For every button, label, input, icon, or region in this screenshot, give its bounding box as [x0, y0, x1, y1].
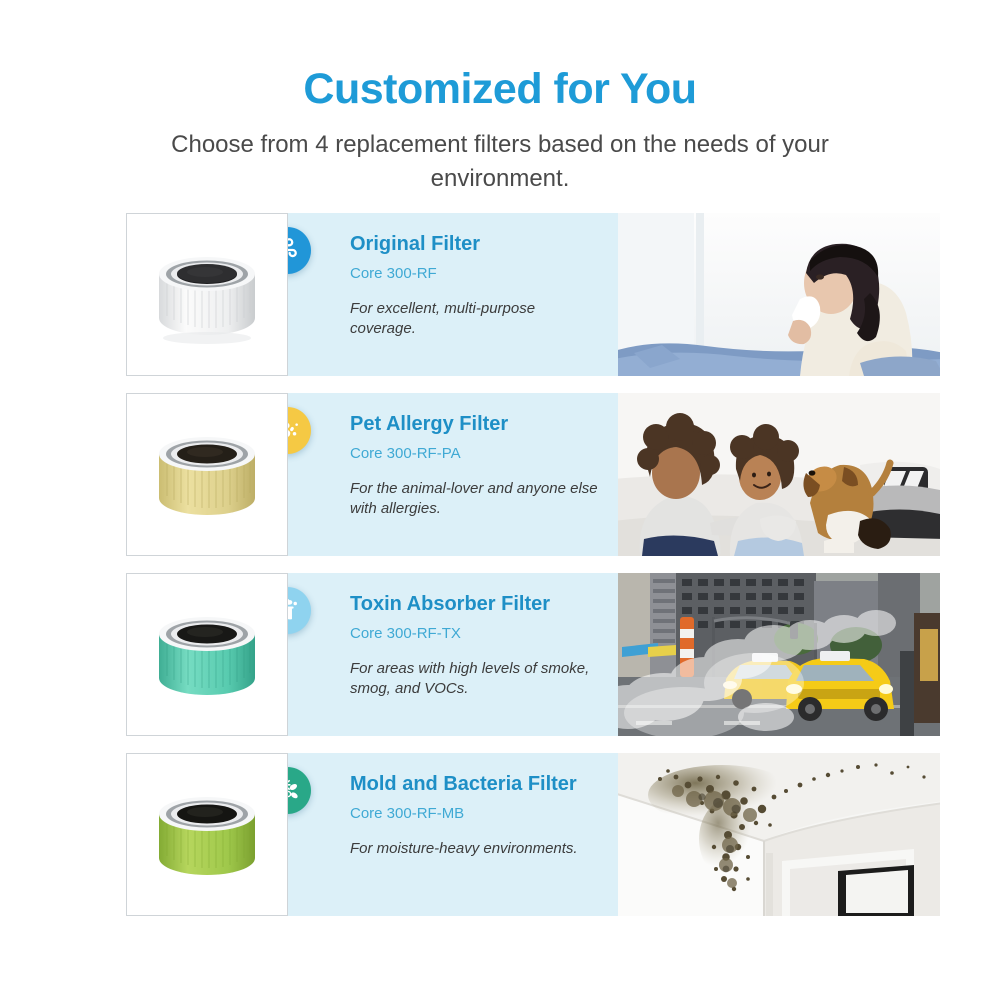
filter-list: Original Filter Core 300-RF For excellen…	[0, 213, 1000, 933]
photo-illustration	[618, 393, 940, 556]
page-subtitle: Choose from 4 replacement filters based …	[105, 128, 895, 194]
photo-illustration	[618, 753, 940, 916]
filter-row[interactable]: Pet Allergy Filter Core 300-RF-PA For th…	[0, 393, 1000, 573]
woman-sneezing-on-bed-photo	[618, 213, 940, 376]
filter-model: Core 300-RF-TX	[350, 625, 604, 643]
photo-illustration	[618, 573, 940, 736]
air-filter-image	[147, 782, 267, 886]
filter-name: Original Filter	[350, 233, 604, 256]
page-header: Customized for You Choose from 4 replace…	[0, 0, 1000, 195]
air-filter-image	[147, 422, 267, 526]
filter-product-thumbnail	[126, 573, 288, 736]
children-playing-with-dog-photo	[618, 393, 940, 556]
filter-product-thumbnail	[126, 393, 288, 556]
filter-description: For moisture-heavy environments.	[350, 839, 600, 859]
filter-name: Pet Allergy Filter	[350, 413, 604, 436]
filter-product-thumbnail	[126, 753, 288, 916]
filter-model: Core 300-RF-MB	[350, 805, 604, 823]
customized-for-you-page: Customized for You Choose from 4 replace…	[0, 0, 1000, 1000]
air-filter-image	[147, 602, 267, 706]
filter-info-panel: Original Filter Core 300-RF For excellen…	[288, 213, 618, 376]
filter-product-thumbnail	[126, 213, 288, 376]
filter-description: For the animal-lover and anyone else wit…	[350, 479, 600, 520]
filter-info-panel: Pet Allergy Filter Core 300-RF-PA For th…	[288, 393, 618, 556]
filter-model: Core 300-RF-PA	[350, 445, 604, 463]
city-street-taxis-smog-photo	[618, 573, 940, 736]
page-title: Customized for You	[0, 66, 1000, 112]
filter-name: Mold and Bacteria Filter	[350, 773, 604, 796]
filter-model: Core 300-RF	[350, 265, 604, 283]
filter-info-panel: Toxin Absorber Filter Core 300-RF-TX For…	[288, 573, 618, 736]
mold-on-ceiling-corner-photo	[618, 753, 940, 916]
photo-illustration	[618, 213, 940, 376]
filter-description: For areas with high levels of smoke, smo…	[350, 659, 600, 700]
filter-row[interactable]: Mold and Bacteria Filter Core 300-RF-MB …	[0, 753, 1000, 933]
filter-row[interactable]: Toxin Absorber Filter Core 300-RF-TX For…	[0, 573, 1000, 753]
filter-row[interactable]: Original Filter Core 300-RF For excellen…	[0, 213, 1000, 393]
filter-name: Toxin Absorber Filter	[350, 593, 604, 616]
filter-description: For excellent, multi-purpose coverage.	[350, 299, 600, 340]
air-filter-image	[147, 242, 267, 346]
filter-info-panel: Mold and Bacteria Filter Core 300-RF-MB …	[288, 753, 618, 916]
